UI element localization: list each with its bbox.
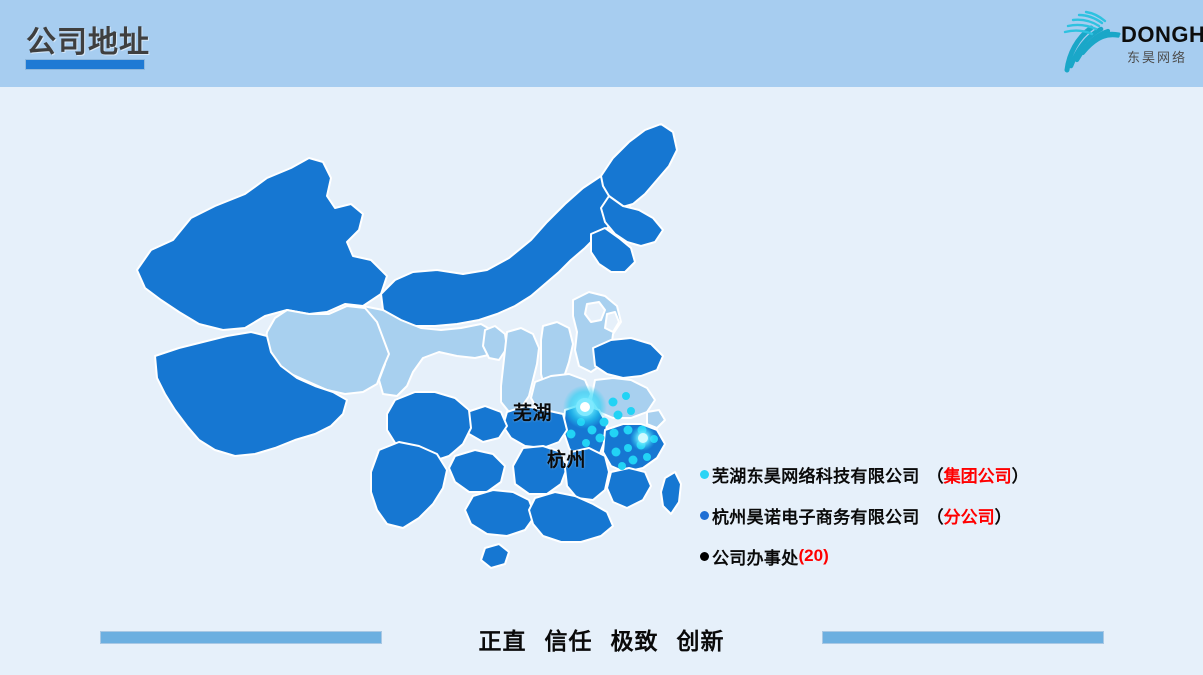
slogan-word-3: 极致 [611,628,659,654]
legend-paren-close: ） [1012,462,1029,487]
city-label-hangzhou: 杭州 [547,445,586,472]
region-shandong [593,338,663,378]
slogan-word-4: 创新 [677,628,725,654]
legend-paren-close: ） [995,503,1012,528]
logo-name: DONGHAO [1121,24,1197,46]
region-guangdong [529,492,613,542]
legend-paren-open: （ [927,503,944,528]
logo-subtitle: 东昊网络 [1121,51,1197,64]
office-dot [610,429,619,438]
legend-bullet-black-icon [700,552,709,561]
region-yunnan [371,442,447,528]
hq-marker-wuhu [563,385,607,429]
legend-item-count: (20) [799,546,829,566]
china-map-svg [95,100,695,600]
legend-item-branch: 杭州昊诺电子商务有限公司 （分公司） [700,503,1120,527]
office-dot [596,434,605,443]
region-taiwan [661,472,681,514]
region-beijing [585,302,605,322]
title-underline-bar [25,59,145,70]
legend-item-accent: 集团公司 [944,462,1012,487]
company-logo: DONGHAO 东昊网络 [1015,6,1195,80]
office-dot [627,407,635,415]
region-guangxi [465,490,535,536]
legend-bullet-blue-icon [700,511,709,520]
office-dot [624,444,632,452]
legend-item-label: 公司办事处 [712,544,799,569]
region-fujian [607,468,651,508]
city-label-wuhu: 芜湖 [513,398,552,425]
legend-bullet-cyan-icon [700,470,709,479]
region-ningxia [483,326,507,360]
slogan-word-1: 正直 [479,628,527,654]
legend: 芜湖东昊网络科技有限公司 （集团公司） 杭州昊诺电子商务有限公司 （分公司） 公… [700,462,1120,585]
region-guizhou [449,450,505,492]
legend-paren-open: （ [927,462,944,487]
office-dot [609,398,618,407]
office-dot [567,430,576,439]
page-title: 公司地址 [26,17,150,61]
office-dot [629,456,638,465]
slogan-word-2: 信任 [545,628,593,654]
office-dot [612,448,621,457]
china-map: 芜湖 杭州 [95,100,695,600]
legend-item-accent: 分公司 [944,503,995,528]
region-shanghai [647,410,665,428]
office-dot [643,453,651,461]
region-hainan [481,544,509,568]
legend-item-label: 芜湖东昊网络科技有限公司 [712,462,920,487]
branch-marker-hangzhou [630,425,656,451]
legend-item-headquarters: 芜湖东昊网络科技有限公司 （集团公司） [700,462,1120,486]
legend-item-offices: 公司办事处(20) [700,544,1120,568]
region-heilongjiang [601,124,677,208]
feather-wing-mark-icon [1059,8,1125,74]
logo-wordmark: DONGHAO 东昊网络 [1121,24,1197,64]
footer-slogan: 正直信任极致创新 [0,622,1203,656]
office-dot [618,462,626,470]
region-xinjiang [137,158,387,330]
office-dot [622,392,630,400]
page-header: 公司地址 [0,0,1203,87]
legend-item-label: 杭州昊诺电子商务有限公司 [712,503,920,528]
office-dot [614,411,623,420]
